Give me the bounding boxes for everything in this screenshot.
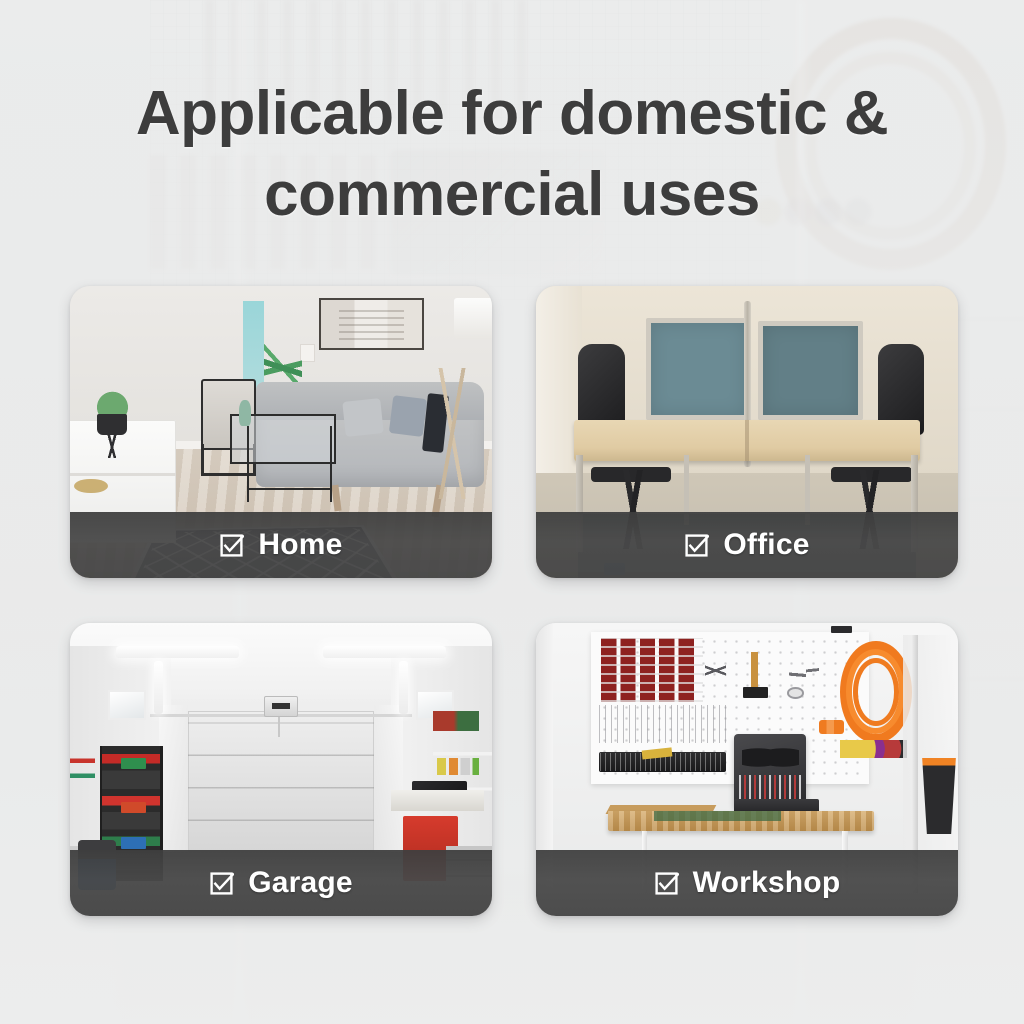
page-title-line-2: commercial uses xyxy=(0,155,1024,236)
window-left xyxy=(108,690,146,719)
use-case-card-workshop[interactable]: Workshop xyxy=(536,623,958,916)
desk-divider-left xyxy=(646,318,752,420)
pliers-icon xyxy=(705,655,726,684)
garage-label: Garage xyxy=(248,866,353,900)
waste-bin xyxy=(922,758,956,834)
checkbox-checked-icon xyxy=(654,871,679,896)
desk-divider-right xyxy=(758,321,864,420)
use-case-card-grid: Home xyxy=(70,286,958,916)
page-title: Applicable for domestic & commercial use… xyxy=(0,74,1024,235)
use-case-card-garage[interactable]: Garage xyxy=(70,623,492,916)
use-case-card-office[interactable]: Office xyxy=(536,286,958,578)
page-title-line-1: Applicable for domestic & xyxy=(0,74,1024,155)
garage-door xyxy=(188,711,374,852)
ceiling-light-right xyxy=(323,646,445,658)
hammer-icon xyxy=(743,687,768,697)
checkbox-checked-icon xyxy=(219,533,244,558)
garage-label-bar: Garage xyxy=(70,850,492,916)
red-tool-holders xyxy=(601,638,702,702)
home-label-bar: Home xyxy=(70,512,492,578)
workshop-label-bar: Workshop xyxy=(536,850,958,916)
home-label: Home xyxy=(258,528,342,562)
office-label: Office xyxy=(723,528,809,562)
office-label-bar: Office xyxy=(536,512,958,578)
wall-art-frames xyxy=(319,298,425,351)
checkbox-checked-icon xyxy=(209,871,234,896)
tape-rolls xyxy=(840,740,908,758)
garage-door-opener xyxy=(264,696,298,717)
use-case-card-home[interactable]: Home xyxy=(70,286,492,578)
workshop-label: Workshop xyxy=(693,866,841,900)
checkbox-checked-icon xyxy=(684,533,709,558)
ceiling-light-left xyxy=(116,646,238,658)
